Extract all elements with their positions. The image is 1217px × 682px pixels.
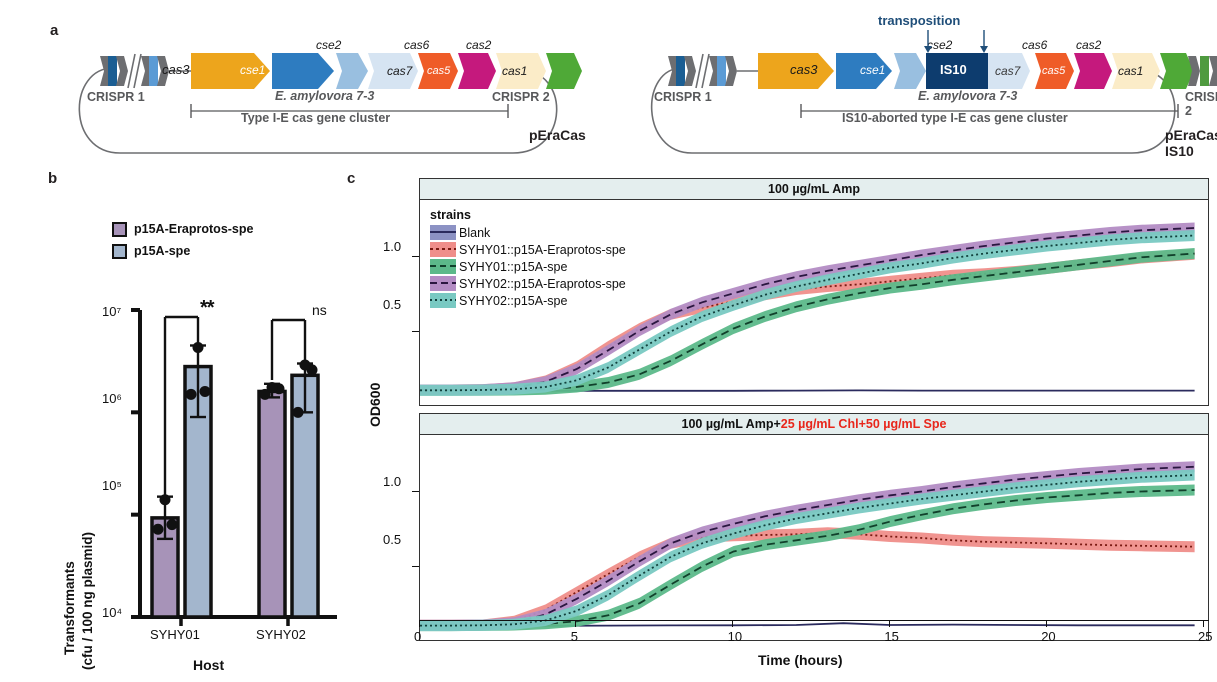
panel-c-legend: strains Blank SYHY01::p15A-Eraprotos-spe (430, 208, 626, 309)
legend-swatch-s01-era (430, 242, 456, 257)
panel-a: a (0, 0, 1217, 160)
facet-bottom: 100 µg/mL Amp+25 µg/mL Chl+50 µg/mL Spe (419, 413, 1209, 641)
c-top-ytick-1.0: 1.0 (383, 239, 401, 254)
c-xtick-5: 5 (571, 629, 578, 644)
gene-cse2-r (894, 53, 926, 89)
gene-cse1-r (836, 53, 892, 89)
c-bot-ytick-1.0: 1.0 (383, 474, 401, 489)
facet-bottom-title-part2: 25 µg/mL Chl+50 µg/mL Spe (781, 417, 947, 431)
legend-label-s02-era: SYHY02::p15A-Eraprotos-spe (459, 277, 626, 291)
gene-cas6-r (1074, 53, 1112, 89)
gene-cas1 (496, 53, 546, 89)
gene-cas1-r (1112, 53, 1160, 89)
c-top-ytick-0.5: 0.5 (383, 297, 401, 312)
panel-c: c OD600 100 µg/mL Amp strains Blank (345, 165, 1217, 682)
facet-bottom-title-part1: 100 µg/mL Amp+ (682, 417, 781, 431)
c-ytick-mark (412, 256, 419, 257)
gene-cas3 (191, 53, 270, 89)
panel-letter-c: c (347, 170, 355, 187)
legend-item-s02-spe: SYHY02::p15A-spe (430, 292, 626, 309)
c-xtick-mark-15 (889, 620, 890, 627)
c-bot-ytick-0.5: 0.5 (383, 532, 401, 547)
c-xtick-mark-5 (575, 620, 576, 627)
c-xtick-0: 0 (414, 629, 421, 644)
sig-annotation-syhy01: ** (200, 297, 214, 320)
legend-title: strains (430, 208, 626, 222)
gene-cas6 (458, 53, 496, 89)
facet-top-body: strains Blank SYHY01::p15A-Eraprotos-spe (419, 199, 1209, 406)
gene-cas5-r (1035, 53, 1074, 89)
panel-c-xaxis (419, 620, 1211, 632)
c-ytick-mark (412, 491, 419, 492)
crispr1-repeats (100, 54, 169, 88)
gene-cas2 (546, 53, 582, 89)
plasmid-peracas-is10 (640, 38, 1200, 158)
panel-c-xlabel: Time (hours) (758, 652, 843, 668)
legend-swatch-s02-spe (430, 293, 456, 308)
plasmid-peracas (58, 38, 588, 158)
facet-bottom-title: 100 µg/mL Amp+25 µg/mL Chl+50 µg/mL Spe (419, 413, 1209, 434)
panel-b-plot (40, 165, 350, 635)
c-xtick-mark-10 (732, 620, 733, 627)
legend-swatch-s01-spe (430, 259, 456, 274)
gene-cse1 (272, 53, 334, 89)
legend-label-blank: Blank (459, 226, 490, 240)
gene-is10 (926, 53, 988, 89)
legend-item-s01-spe: SYHY01::p15A-spe (430, 258, 626, 275)
sig-annotation-syhy02: ns (312, 302, 327, 318)
legend-item-s01-era: SYHY01::p15A-Eraprotos-spe (430, 241, 626, 258)
facet-top: 100 µg/mL Amp strains Blank SYHY01::p15A… (419, 178, 1209, 406)
legend-label-s01-era: SYHY01::p15A-Eraprotos-spe (459, 243, 626, 257)
gene-cse2 (336, 53, 368, 89)
xtick-syhy01: SYHY01 (150, 627, 200, 642)
legend-item-blank: Blank (430, 224, 626, 241)
legend-swatch-blank (430, 225, 456, 240)
c-xtick-15: 15 (884, 629, 898, 644)
c-xtick-mark-20 (1046, 620, 1047, 627)
facet-bottom-plot (420, 435, 1208, 640)
facet-top-title-text: 100 µg/mL Amp (768, 182, 860, 196)
legend-label-s01-spe: SYHY01::p15A-spe (459, 260, 567, 274)
gene-cas7 (368, 53, 418, 89)
facet-bottom-body (419, 434, 1209, 641)
panel-letter-a: a (50, 22, 58, 39)
legend-item-s02-era: SYHY02::p15A-Eraprotos-spe (430, 275, 626, 292)
xtick-syhy02: SYHY02 (256, 627, 306, 642)
facet-top-title: 100 µg/mL Amp (419, 178, 1209, 199)
panel-c-ylabel: OD600 (367, 383, 383, 427)
c-xtick-25: 25 (1198, 629, 1212, 644)
c-ytick-mark (412, 566, 419, 567)
crispr1-repeats-right (668, 54, 737, 88)
panel-b: b p15A-Eraprotos-spe p15A-spe Transforma… (40, 165, 350, 680)
gene-cas3-r (758, 53, 834, 89)
legend-swatch-s02-era (430, 276, 456, 291)
gene-cas5 (418, 53, 458, 89)
panel-b-xlabel: Host (193, 657, 224, 673)
c-xtick-10: 10 (728, 629, 742, 644)
c-xtick-mark-0 (419, 620, 420, 627)
gene-cas7-r (988, 53, 1030, 89)
legend-label-s02-spe: SYHY02::p15A-spe (459, 294, 567, 308)
c-xtick-20: 20 (1041, 629, 1055, 644)
gene-cas2-r (1160, 53, 1194, 89)
c-xtick-mark-25 (1203, 620, 1204, 627)
transposition-label: transposition (878, 13, 960, 28)
c-ytick-mark (412, 331, 419, 332)
